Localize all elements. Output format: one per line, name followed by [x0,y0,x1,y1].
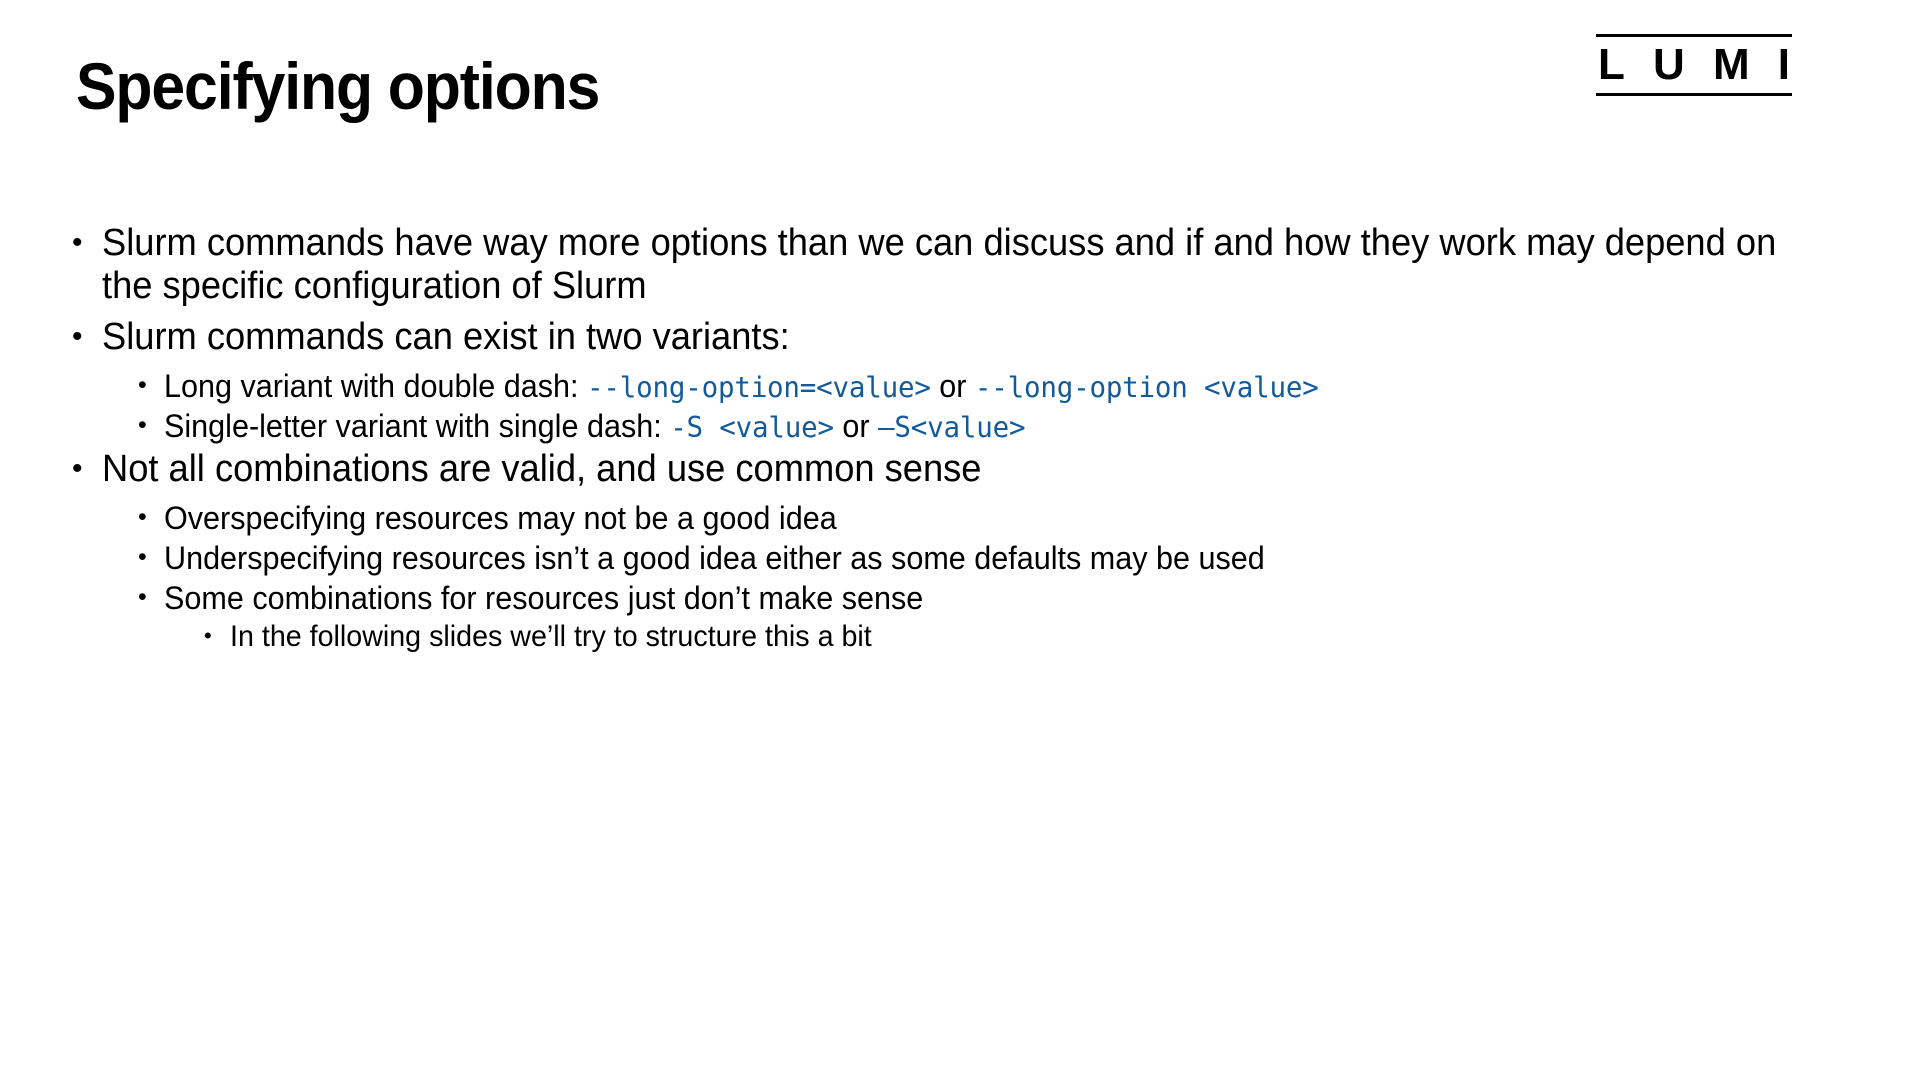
slide-canvas: Specifying options L U M I • Slurm comma… [0,0,1920,1080]
bullet-item: • In the following slides we’ll try to s… [72,620,1862,654]
bullet-text: Overspecifying resources may not be a go… [164,500,837,536]
bullet-text: Long variant with double dash: --long-op… [164,368,1319,404]
logo-letter-u: U [1653,43,1685,87]
bullet-item: • Single-letter variant with single dash… [72,408,1862,444]
bullet-glyph-icon: • [138,368,164,403]
bullet-glyph-icon: • [204,620,230,652]
bullet-item: • Not all combinations are valid, and us… [72,448,1862,491]
bullet-item: • Slurm commands have way more options t… [72,222,1862,307]
bullet-text-prefix: Long variant with double dash: [164,368,587,404]
bullet-text: In the following slides we’ll try to str… [230,620,872,654]
bullet-glyph-icon: • [138,500,164,535]
logo-letter-i: I [1778,43,1790,87]
logo-rule-bottom [1596,93,1792,96]
code-long-option-space: --long-option <value> [975,370,1319,404]
bullet-item: • Slurm commands can exist in two varian… [72,316,1862,359]
bullet-text: Slurm commands have way more options tha… [102,222,1783,307]
page-title: Specifying options [76,52,599,121]
bullet-text: Slurm commands can exist in two variants… [102,316,790,359]
bullet-text: Single-letter variant with single dash: … [164,408,1025,444]
bullet-item: • Long variant with double dash: --long-… [72,368,1862,404]
code-short-option-nospace: –S<value> [878,410,1025,444]
bullet-glyph-icon: • [138,540,164,575]
bullet-glyph-icon: • [72,222,102,263]
bullet-item: • Underspecifying resources isn’t a good… [72,540,1862,576]
logo-letters: L U M I [1596,37,1792,91]
bullet-item: • Overspecifying resources may not be a … [72,500,1862,536]
slide-body: • Slurm commands have way more options t… [72,222,1862,658]
bullet-text-middle: or [931,368,975,404]
bullet-item: • Some combinations for resources just d… [72,580,1862,616]
logo-letter-m: M [1713,43,1750,87]
lumi-logo: L U M I [1596,34,1792,96]
code-short-option-space: -S <value> [670,410,834,444]
bullet-text: Not all combinations are valid, and use … [102,448,981,491]
bullet-text-prefix: Single-letter variant with single dash: [164,408,670,444]
logo-letter-l: L [1598,43,1625,87]
bullet-text: Underspecifying resources isn’t a good i… [164,540,1265,576]
bullet-glyph-icon: • [138,580,164,615]
bullet-glyph-icon: • [138,408,164,443]
bullet-text-middle: or [834,408,878,444]
code-long-option-equals: --long-option=<value> [587,370,931,404]
bullet-text: Some combinations for resources just don… [164,580,923,616]
bullet-glyph-icon: • [72,316,102,357]
bullet-glyph-icon: • [72,448,102,489]
